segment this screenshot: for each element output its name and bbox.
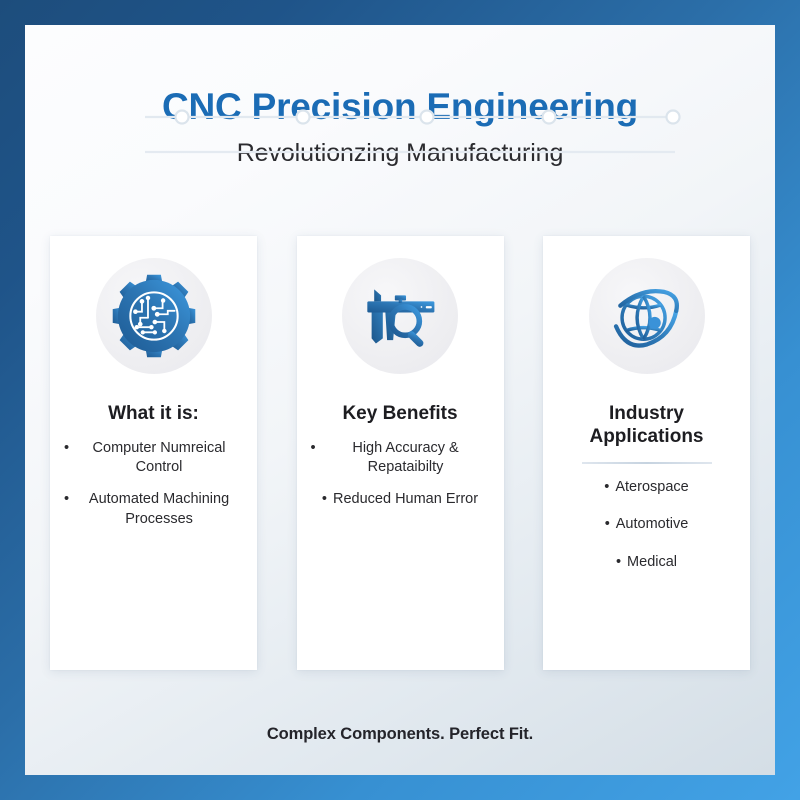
list-item: • Computer Numreical Control — [64, 439, 243, 477]
bullet-dot: • — [604, 478, 609, 497]
list-item: • Medical — [557, 553, 736, 572]
poster-canvas: CNC Precision Engineering Revolutionzing… — [25, 25, 775, 775]
page-title: CNC Precision Engineering — [25, 87, 775, 127]
card-title: Industry Applications — [543, 402, 750, 448]
footer-tagline: Complex Components. Perfect Fit. — [25, 725, 775, 744]
card-what-it-is[interactable]: What it is: • Computer Numreical Control… — [50, 236, 257, 670]
list-item-label: High Accuracy & Repataibilty — [322, 439, 490, 477]
card-divider — [582, 462, 712, 464]
list-item: • Automotive — [557, 515, 736, 534]
bullet-dot: • — [64, 490, 69, 528]
bullet-dot: • — [64, 439, 69, 477]
bullet-dot: • — [616, 553, 621, 572]
list-item-label: Medical — [627, 553, 677, 572]
header: CNC Precision Engineering Revolutionzing… — [25, 87, 775, 168]
card-title: Key Benefits — [334, 402, 465, 425]
bullet-dot: • — [605, 515, 610, 534]
bullet-dot: • — [322, 490, 327, 509]
list-item: • Automated Machining Processes — [64, 490, 243, 528]
page-subtitle: Revolutionzing Manufacturing — [25, 139, 775, 168]
cards-row: What it is: • Computer Numreical Control… — [25, 236, 775, 670]
poster-frame: CNC Precision Engineering Revolutionzing… — [0, 0, 800, 800]
list-item-label: Computer Numreical Control — [75, 439, 243, 477]
card-bullet-list: • High Accuracy & Repataibilty • Reduced… — [297, 439, 504, 522]
card-industry-applications[interactable]: Industry Applications • Aterospace • Aut… — [543, 236, 750, 670]
bullet-dot: • — [311, 439, 316, 477]
globe-orbit-icon — [589, 258, 705, 374]
list-item-label: Automated Machining Processes — [75, 490, 243, 528]
list-item: • High Accuracy & Repataibilty — [311, 439, 490, 477]
card-key-benefits[interactable]: Key Benefits • High Accuracy & Repataibi… — [297, 236, 504, 670]
list-item-label: Aterospace — [615, 478, 688, 497]
list-item-label: Automotive — [616, 515, 689, 534]
caliper-magnifier-icon — [342, 258, 458, 374]
card-bullet-list: • Computer Numreical Control • Automated… — [50, 439, 257, 542]
list-item: • Aterospace — [557, 478, 736, 497]
gear-circuit-icon — [96, 258, 212, 374]
list-item: • Reduced Human Error — [311, 490, 490, 509]
card-title: What it is: — [100, 402, 207, 425]
card-bullet-list: • Aterospace • Automotive • Medical — [543, 478, 750, 589]
list-item-label: Reduced Human Error — [333, 490, 478, 509]
